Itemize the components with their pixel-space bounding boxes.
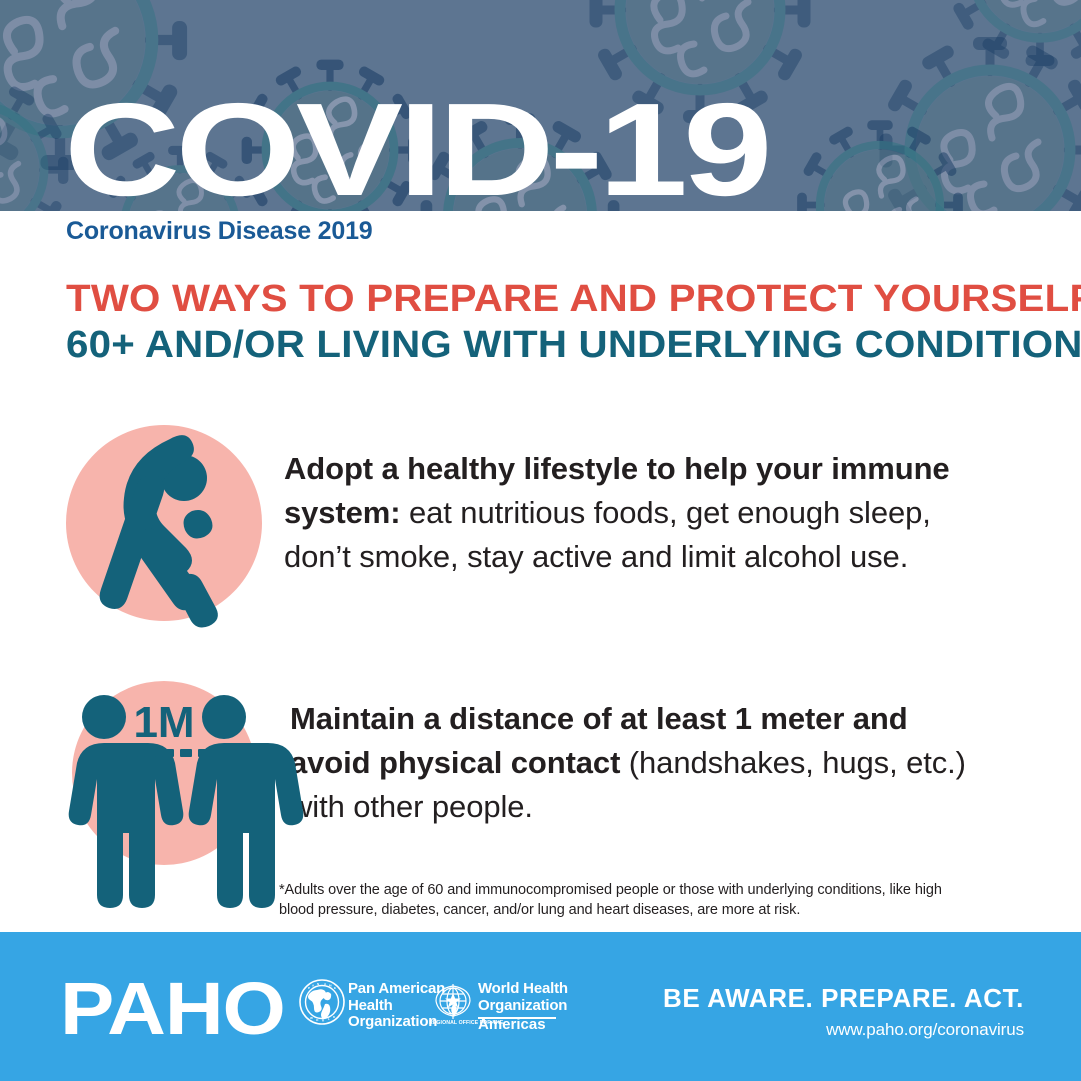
paho-wordmark: PAHO	[60, 972, 285, 1046]
physical-distance-icon: 1M	[56, 675, 272, 879]
footer-url-link[interactable]: www.paho.org/coronavirus	[826, 1020, 1024, 1040]
who-emblem-icon	[430, 979, 476, 1025]
headline-block: TWO WAYS TO PREPARE AND PROTECT YOURSELF…	[66, 276, 1066, 368]
tip-row-1: Adopt a healthy lifestyle to help your i…	[66, 425, 999, 621]
covid-infographic-poster: COVID-19 Coronavirus Disease 2019 TWO WA…	[0, 0, 1081, 1081]
who-org-line-2: Organization	[478, 998, 568, 1015]
svg-text:L: L	[328, 1017, 330, 1021]
distance-label: 1M	[133, 698, 194, 747]
page-title: COVID-19	[64, 84, 768, 211]
footnote: *Adults over the age of 60 and immunocom…	[279, 880, 979, 920]
banner-subtitle: Coronavirus Disease 2019	[66, 217, 372, 245]
active-person-icon	[66, 425, 262, 621]
footer-slogan: BE AWARE. PREPARE. ACT.	[663, 984, 1024, 1012]
svg-text:E: E	[334, 986, 336, 990]
tip-row-2: 1M Maintain a distance of at least 1 met…	[56, 675, 990, 879]
headline-line-2: 60+ AND/OR LIVING WITH UNDERLYING CONDIT…	[66, 322, 1081, 368]
paho-globe-emblem-icon: PAN AME WORLD	[299, 979, 345, 1025]
svg-text:P: P	[308, 986, 310, 990]
tip-text-2: Maintain a distance of at least 1 meter …	[290, 697, 990, 829]
who-americas-label: Americas	[478, 1016, 546, 1033]
who-org-line-1: World Health	[478, 981, 568, 998]
svg-text:M: M	[329, 984, 332, 988]
banner-header: COVID-19	[0, 0, 1081, 211]
svg-text:A: A	[324, 982, 327, 986]
svg-text:W: W	[310, 1016, 313, 1020]
headline-line-1: TWO WAYS TO PREPARE AND PROTECT YOURSELF	[66, 276, 1081, 322]
who-organization-name: World Health Organization	[478, 981, 568, 1014]
tip-text-1: Adopt a healthy lifestyle to help your i…	[284, 447, 999, 579]
